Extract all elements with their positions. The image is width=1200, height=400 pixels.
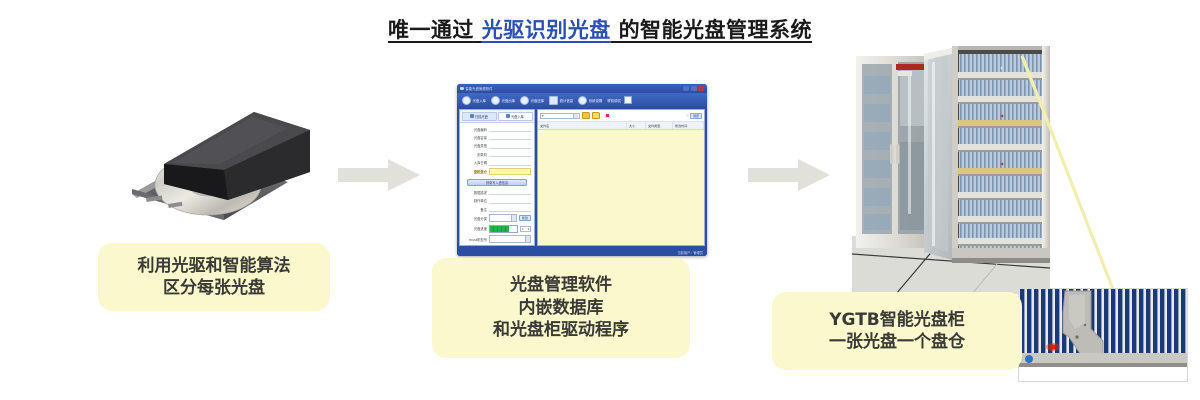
toolbar-button-disc-return[interactable]: 光盘还库	[518, 95, 546, 106]
file-list-header: 文件名 大小 文件类型 修改时间	[538, 122, 704, 130]
disc-in-icon	[462, 96, 471, 105]
caption-line: YGTB智能光盘柜	[829, 309, 965, 331]
field-label: 光盘容量	[463, 135, 487, 140]
stats-icon	[549, 96, 558, 105]
minimize-icon[interactable]	[683, 86, 689, 91]
toolbar-label: 联机调试	[607, 98, 621, 103]
app-window-title: 智能光盘管理软件	[466, 86, 682, 91]
folder-icon[interactable]	[582, 112, 590, 119]
quantity-stepper[interactable]: 1 ▾	[520, 226, 531, 232]
window-controls[interactable]	[683, 86, 704, 91]
field-producer[interactable]: 制作单位	[463, 198, 531, 204]
toolbar-label: 光盘入库	[473, 98, 487, 103]
arrow-drive-to-software	[338, 158, 422, 192]
app-logo-icon	[460, 87, 464, 91]
machine-model-select[interactable]	[489, 235, 531, 243]
slide-canvas: 唯一通过 光驱识别光盘 的智能光盘管理系统	[0, 0, 1200, 400]
new-category-button[interactable]: 新建	[519, 215, 531, 221]
field-cabinet-slot[interactable]: 盘柜盘仓	[463, 168, 531, 176]
gear-icon	[578, 96, 587, 105]
column-filename[interactable]: 文件名	[538, 122, 627, 129]
toolbar-button-settings[interactable]: 系统设置	[576, 95, 604, 106]
column-modified[interactable]: 修改时间	[673, 122, 704, 129]
disc-out-icon	[491, 96, 500, 105]
title-highlight: 光驱识别光盘	[482, 18, 611, 42]
drive-path-select[interactable]: F:	[540, 113, 580, 119]
toolbar-button-stats[interactable]: 统计信息	[547, 95, 575, 106]
record-icon[interactable]	[606, 114, 609, 117]
file-browser-toolbar[interactable]: F: ⌐ 浏览	[538, 110, 704, 122]
app-toolbar[interactable]: 光盘入库 光盘出库 光盘还库 统计信息 系统设置 联机调试	[457, 93, 707, 107]
disc-slot-closeup-photo	[1018, 288, 1188, 382]
stepper-value: 1	[522, 227, 524, 231]
field-disc-category[interactable]: 光盘分类 新建	[463, 214, 531, 222]
field-in-date[interactable]: 入库日期	[463, 160, 531, 166]
disc-info-form[interactable]: 光盘编码 光盘容量 光盘类型 刻录机	[460, 123, 534, 245]
app-status-bar: 当前用户：管理员	[457, 248, 707, 256]
field-data-desc[interactable]: 数据描述	[463, 189, 531, 195]
field-label: 数据描述	[463, 190, 487, 195]
field-input[interactable]	[489, 126, 531, 132]
maximize-icon[interactable]	[691, 86, 697, 91]
app-titlebar: 智能光盘管理软件	[457, 84, 707, 93]
field-remark[interactable]: 备注	[463, 206, 531, 212]
toolbar-label: 系统设置	[589, 98, 603, 103]
panel-tabs[interactable]: 扫描光盘 光盘入库	[460, 110, 534, 123]
field-label: must机型号	[463, 237, 487, 242]
field-input[interactable]	[489, 151, 531, 157]
dvd-drive-photo	[128, 108, 314, 223]
tab-disc-in[interactable]: 光盘入库	[498, 112, 533, 121]
field-input[interactable]	[489, 160, 531, 166]
toolbar-button-disc-out[interactable]: 光盘出库	[489, 95, 517, 106]
chevron-down-icon[interactable]: ▾	[528, 227, 529, 231]
disc-cabinet-photo	[852, 46, 1050, 294]
caption-line: 区分每张光盘	[163, 277, 265, 299]
toolbar-label: 光盘还库	[531, 98, 545, 103]
disc-category-select[interactable]	[489, 214, 517, 222]
toolbar-button-debug[interactable]: 联机调试	[605, 97, 623, 104]
close-icon[interactable]	[698, 86, 704, 91]
browse-menu[interactable]: ⌐ 浏览	[686, 113, 702, 119]
field-input[interactable]	[489, 206, 531, 212]
progress-bar	[489, 225, 518, 233]
chevron-down-icon[interactable]	[525, 236, 530, 242]
drive-path-value: F:	[542, 114, 544, 118]
tab-label: 扫描光盘	[475, 114, 488, 119]
field-label: 制作单位	[463, 198, 487, 203]
chevron-right-icon: ⌐	[686, 114, 689, 118]
caption-line: 利用光驱和智能算法	[138, 255, 291, 277]
field-input-highlighted[interactable]	[489, 168, 531, 176]
file-list-body[interactable]	[538, 130, 704, 245]
app-body: 扫描光盘 光盘入库 光盘编码 光盘容量	[457, 107, 707, 248]
tab-label: 光盘入库	[511, 114, 524, 119]
chevron-down-icon[interactable]	[573, 114, 578, 118]
status-text: 当前用户：管理员	[678, 250, 704, 255]
field-disc-type[interactable]: 光盘类型	[463, 143, 531, 149]
field-label: 刻录机	[463, 152, 487, 157]
caption-line: 一张光盘一个盘仓	[829, 331, 965, 353]
column-size[interactable]: 大小	[627, 122, 646, 129]
chevron-down-icon[interactable]	[511, 215, 516, 221]
browse-button[interactable]: 浏览	[690, 113, 702, 119]
field-label: 入库日期	[463, 160, 487, 165]
debug-icon[interactable]	[624, 96, 632, 104]
caption-line: 和光盘柜驱动程序	[493, 319, 629, 341]
caption-line: 内嵌数据库	[519, 297, 604, 319]
field-input[interactable]	[489, 134, 531, 140]
field-disc-code[interactable]: 光盘编码	[463, 126, 531, 132]
plus-icon	[506, 114, 510, 118]
field-machine-model[interactable]: must机型号	[463, 235, 531, 243]
folder-open-icon[interactable]	[592, 112, 600, 119]
field-label: 备注	[463, 207, 487, 212]
page-title: 唯一通过 光驱识别光盘 的智能光盘管理系统	[0, 14, 1200, 44]
field-recorder[interactable]: 刻录机	[463, 151, 531, 157]
field-disc-progress: 光盘进度 1 ▾	[463, 225, 531, 233]
app-right-panel[interactable]: F: ⌐ 浏览 文件名 大小 文件类型 修改时间	[537, 109, 705, 246]
field-input[interactable]	[489, 198, 531, 204]
scan-icon	[470, 114, 474, 118]
tab-scan-disc[interactable]: 扫描光盘	[462, 112, 497, 121]
field-label: 光盘进度	[463, 226, 487, 231]
app-left-panel[interactable]: 扫描光盘 光盘入库 光盘编码 光盘容量	[459, 109, 535, 246]
field-label: 光盘分类	[463, 216, 487, 221]
field-disc-capacity[interactable]: 光盘容量	[463, 134, 531, 140]
field-label: 盘柜盘仓	[463, 169, 487, 174]
title-suffix: 的智能光盘管理系统	[619, 18, 813, 42]
field-label: 光盘编码	[463, 127, 487, 132]
write-disc-info-button[interactable]: 刻录写入盘信息	[467, 179, 527, 186]
caption-line: 光盘管理软件	[510, 274, 612, 296]
field-input[interactable]	[489, 189, 531, 195]
toolbar-button-disc-in[interactable]: 光盘入库	[460, 95, 488, 106]
field-label: 光盘类型	[463, 143, 487, 148]
field-input[interactable]	[489, 143, 531, 149]
caption-software: 光盘管理软件 内嵌数据库 和光盘柜驱动程序	[432, 258, 690, 358]
toolbar-label: 统计信息	[560, 98, 574, 103]
column-filetype[interactable]: 文件类型	[646, 122, 673, 129]
toolbar-label: 光盘出库	[502, 98, 516, 103]
disc-return-icon	[520, 96, 529, 105]
caption-drive: 利用光驱和智能算法 区分每张光盘	[98, 243, 330, 311]
arrow-software-to-cabinet	[748, 158, 832, 192]
title-prefix: 唯一通过	[388, 18, 474, 42]
caption-cabinet: YGTB智能光盘柜 一张光盘一个盘仓	[772, 292, 1022, 370]
disc-management-software-window[interactable]: 智能光盘管理软件 光盘入库 光盘出库 光盘还库 统计信息	[457, 84, 707, 256]
